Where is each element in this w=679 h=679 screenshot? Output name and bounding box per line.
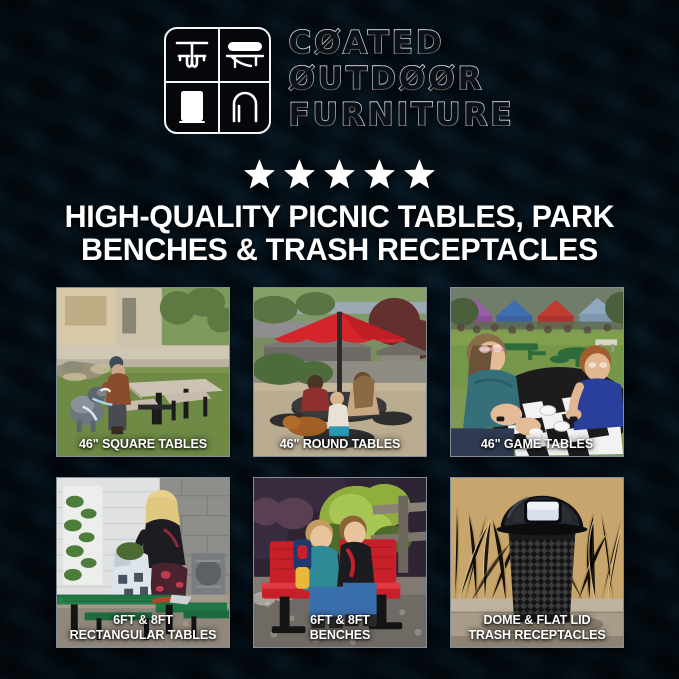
headline-line-1: HIGH-QUALITY PICNIC TABLES, PARK (65, 198, 615, 234)
star-icon (284, 159, 315, 189)
brand-line-3: FURNITURE (288, 98, 514, 133)
product-caption: 46" GAME TABLES (455, 437, 618, 452)
picnic-table-icon (166, 29, 218, 81)
product-caption: DOME & FLAT LID TRASH RECEPTACLES (455, 613, 618, 642)
product-tile-benches[interactable]: 6FT & 8FT BENCHES (253, 477, 427, 648)
brand-line-1: CØATED (288, 26, 514, 61)
product-tile-rectangular-tables[interactable]: 6FT & 8FT RECTANGULAR TABLES (56, 477, 230, 648)
product-caption: 6FT & 8FT BENCHES (258, 613, 421, 642)
arch-bike-rack-icon (218, 81, 270, 133)
headline-line-2: BENCHES & TRASH RECEPTACLES (12, 233, 667, 266)
logo-icon-grid (164, 27, 271, 134)
page-title: HIGH-QUALITY PICNIC TABLES, PARK BENCHES… (12, 200, 667, 266)
promo-banner: CØATED ØUTDØØR FURNITURE HIGH-QUALITY PI… (0, 0, 679, 679)
product-tile-trash-receptacles[interactable]: DOME & FLAT LID TRASH RECEPTACLES (450, 477, 624, 648)
star-rating (0, 159, 679, 189)
product-caption: 46" SQUARE TABLES (61, 437, 224, 452)
star-icon (404, 159, 435, 189)
product-tile-grid: 46" SQUARE TABLES (56, 287, 624, 648)
product-tile-round-tables[interactable]: 46" ROUND TABLES (253, 287, 427, 457)
square-tables-photo (57, 288, 229, 456)
brand-wordmark: CØATED ØUTDØØR FURNITURE (288, 26, 514, 135)
product-tile-square-tables[interactable]: 46" SQUARE TABLES (56, 287, 230, 457)
star-icon (324, 159, 355, 189)
product-tile-game-tables[interactable]: 46" GAME TABLES (450, 287, 624, 457)
round-tables-photo (254, 288, 426, 456)
game-tables-photo (451, 288, 623, 456)
brand-logo: CØATED ØUTDØØR FURNITURE (0, 26, 679, 135)
star-icon (364, 159, 395, 189)
product-caption: 46" ROUND TABLES (258, 437, 421, 452)
product-caption: 6FT & 8FT RECTANGULAR TABLES (61, 613, 224, 642)
bench-icon (218, 29, 270, 81)
star-icon (244, 159, 275, 189)
trash-receptacle-icon (166, 81, 218, 133)
brand-line-2: ØUTDØØR (288, 62, 514, 97)
